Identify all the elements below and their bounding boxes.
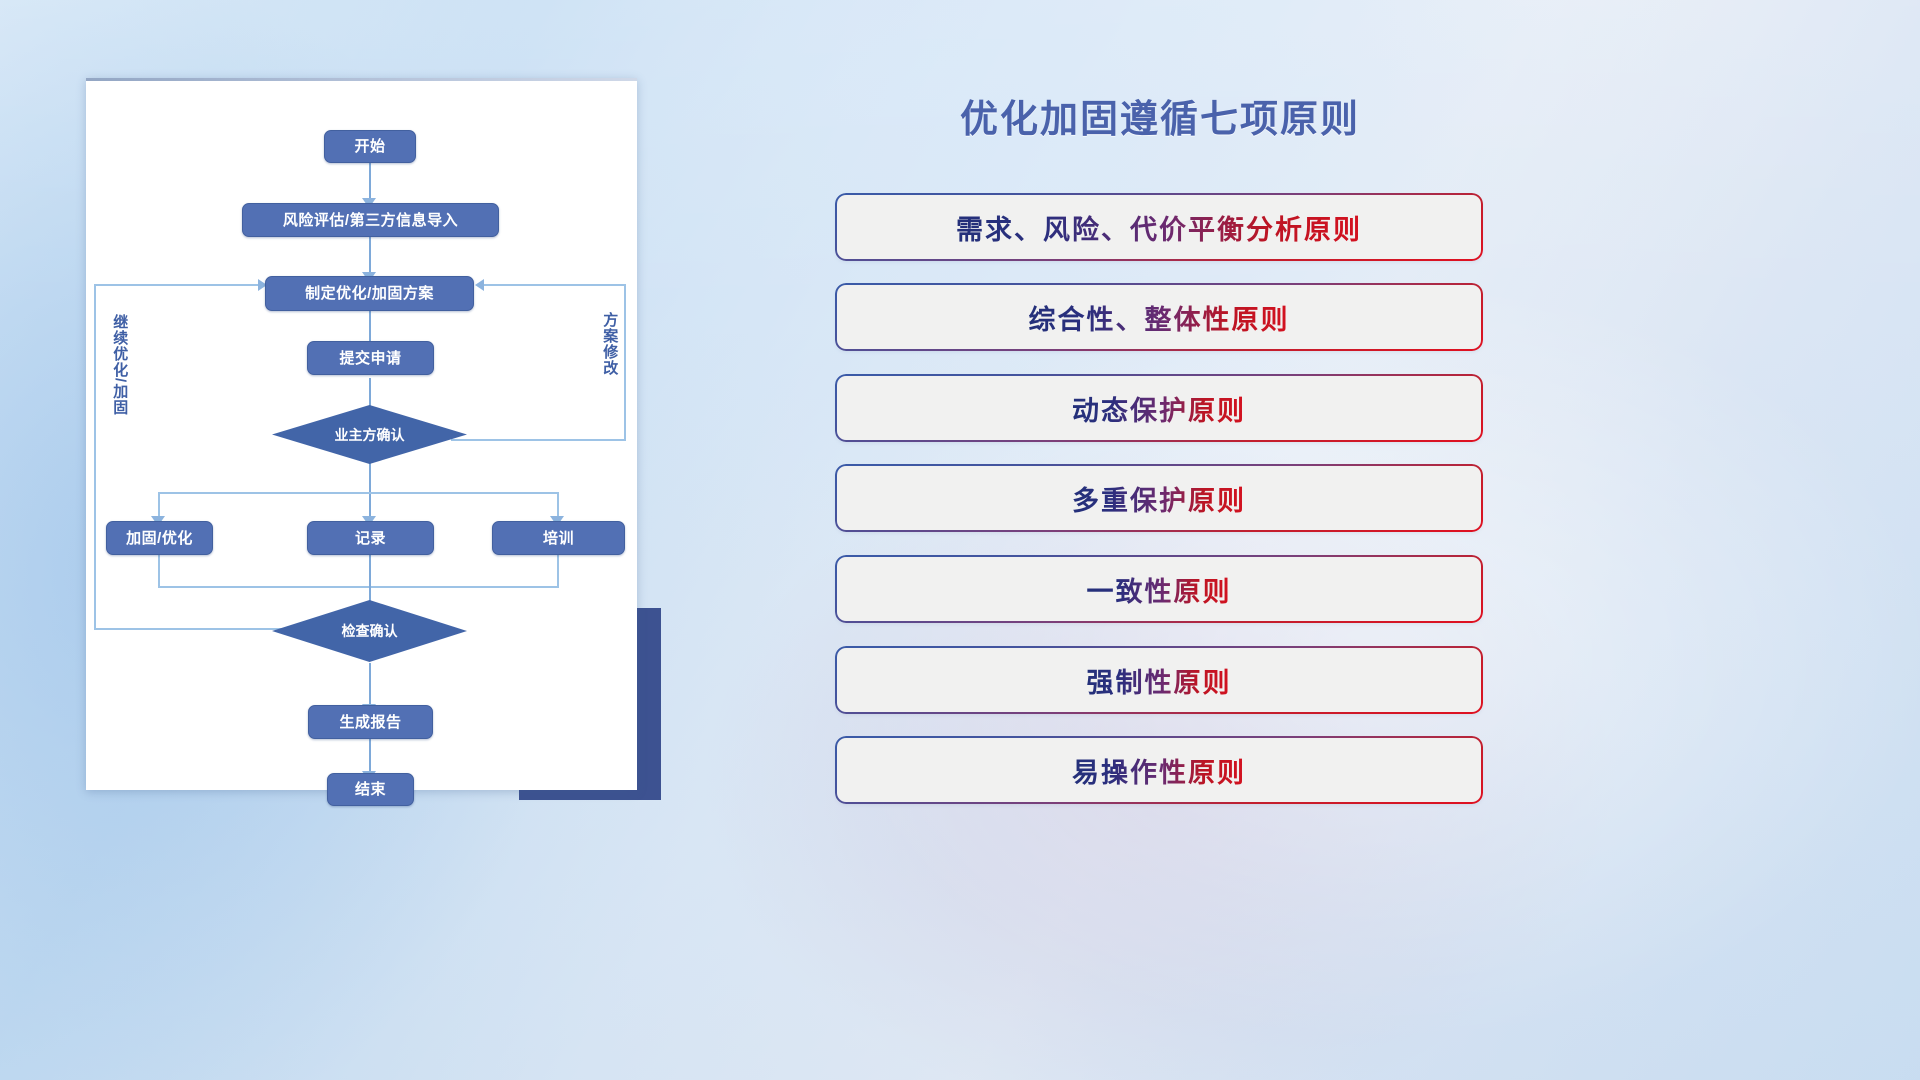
edge-label-continue-loop: 继续优化/加固 bbox=[111, 314, 128, 415]
principle-item-1-label: 需求、风险、代价平衡分析原则 bbox=[956, 208, 1362, 247]
connector-reinforce-down bbox=[158, 553, 160, 588]
principle-item-7-label: 易操作性原则 bbox=[1072, 751, 1246, 790]
arrowhead-revision-into-plan bbox=[475, 279, 484, 291]
connector-merge-bus bbox=[158, 586, 558, 588]
principle-item-7[interactable]: 易操作性原则 bbox=[837, 738, 1481, 802]
flow-node-end[interactable]: 结束 bbox=[327, 773, 414, 806]
connector-loop-left-vertical bbox=[94, 284, 96, 629]
flow-node-report-label: 生成报告 bbox=[339, 715, 401, 730]
connector-report-end bbox=[369, 738, 371, 775]
principle-item-4[interactable]: 多重保护原则 bbox=[837, 466, 1481, 530]
connector-revision-bottom bbox=[451, 439, 626, 441]
principle-item-4-label: 多重保护原则 bbox=[1072, 479, 1246, 518]
flow-node-check-confirm[interactable]: 检查确认 bbox=[272, 600, 467, 662]
connector-risk-plan bbox=[369, 234, 371, 276]
flow-node-reinforce-label: 加固/优化 bbox=[126, 531, 193, 546]
flow-node-start[interactable]: 开始 bbox=[324, 130, 416, 163]
principle-item-2[interactable]: 综合性、整体性原则 bbox=[837, 285, 1481, 349]
flow-node-plan-label: 制定优化/加固方案 bbox=[305, 286, 434, 301]
flow-node-owner-confirm[interactable]: 业主方确认 bbox=[272, 405, 467, 464]
flow-node-plan[interactable]: 制定优化/加固方案 bbox=[265, 276, 474, 311]
flow-node-submit-label: 提交申请 bbox=[339, 351, 401, 366]
connector-loop-left-top bbox=[94, 284, 260, 286]
connector-fanout-bus bbox=[158, 492, 558, 494]
flow-node-end-label: 结束 bbox=[355, 782, 386, 797]
principle-item-6-label: 强制性原则 bbox=[1087, 661, 1232, 700]
flow-node-risk-assessment-label: 风险评估/第三方信息导入 bbox=[283, 213, 458, 228]
flowchart-card: 继续优化/加固 方案修改 开始 风险评估/第三方信息导入 制定优化/加固方案 提… bbox=[86, 78, 637, 790]
flow-node-training-label: 培训 bbox=[543, 531, 574, 546]
flow-node-record[interactable]: 记录 bbox=[307, 521, 434, 555]
principle-item-3[interactable]: 动态保护原则 bbox=[837, 376, 1481, 440]
edge-label-plan-revision: 方案修改 bbox=[601, 312, 618, 376]
principle-item-3-label: 动态保护原则 bbox=[1072, 389, 1246, 428]
flow-node-report[interactable]: 生成报告 bbox=[308, 705, 433, 739]
principle-item-2-label: 综合性、整体性原则 bbox=[1029, 298, 1290, 337]
flow-node-submit[interactable]: 提交申请 bbox=[307, 341, 434, 375]
connector-training-down bbox=[557, 553, 559, 588]
flow-node-risk-assessment[interactable]: 风险评估/第三方信息导入 bbox=[242, 203, 499, 237]
principle-item-1[interactable]: 需求、风险、代价平衡分析原则 bbox=[837, 195, 1481, 259]
flow-node-training[interactable]: 培训 bbox=[492, 521, 625, 555]
card-top-border bbox=[86, 78, 637, 81]
connector-check-report bbox=[369, 663, 371, 708]
flow-node-record-label: 记录 bbox=[355, 531, 386, 546]
flow-node-owner-confirm-label: 业主方确认 bbox=[272, 405, 467, 464]
connector-start-risk bbox=[369, 160, 371, 202]
flow-node-reinforce[interactable]: 加固/优化 bbox=[106, 521, 213, 555]
connector-revision-top bbox=[484, 284, 625, 286]
page-title: 优化加固遵循七项原则 bbox=[836, 88, 1484, 143]
flow-node-start-label: 开始 bbox=[354, 139, 385, 154]
principle-item-5[interactable]: 一致性原则 bbox=[837, 557, 1481, 621]
flow-node-check-confirm-label: 检查确认 bbox=[272, 600, 467, 662]
connector-revision-vertical bbox=[624, 284, 626, 441]
principle-item-5-label: 一致性原则 bbox=[1087, 570, 1232, 609]
principle-item-6[interactable]: 强制性原则 bbox=[837, 648, 1481, 712]
